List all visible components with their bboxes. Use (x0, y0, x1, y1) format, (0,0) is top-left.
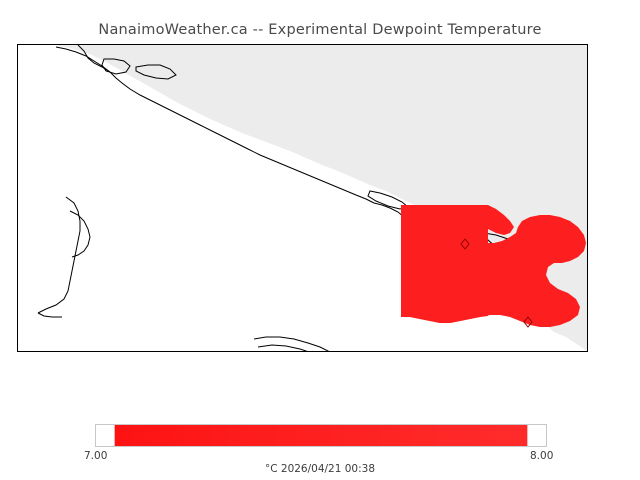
map-graphic (18, 45, 587, 351)
colorbar-gradient (95, 424, 547, 447)
colorbar (95, 424, 547, 447)
map-panel[interactable] (17, 44, 588, 352)
weather-map-page: NanaimoWeather.ca -- Experimental Dewpoi… (0, 0, 640, 480)
colorbar-caption: °C 2026/04/21 00:38 (0, 463, 640, 475)
colorbar-min-label: 7.00 (84, 450, 107, 462)
page-title: NanaimoWeather.ca -- Experimental Dewpoi… (0, 22, 640, 38)
colorbar-max-label: 8.00 (530, 450, 553, 462)
